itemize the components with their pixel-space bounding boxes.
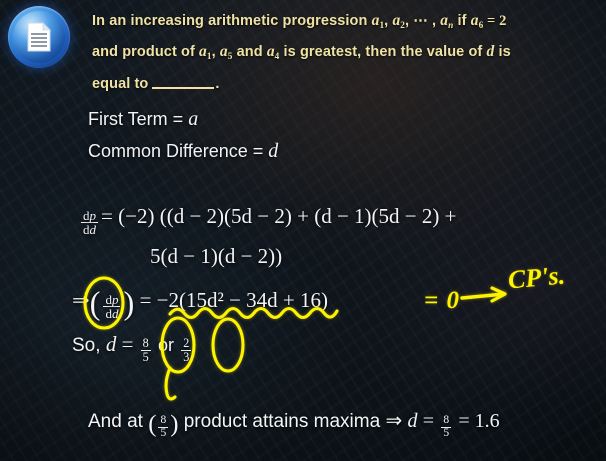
question-line-3: equal to. <box>92 71 592 98</box>
math-var: a <box>267 43 275 60</box>
d-variable: d <box>106 332 117 356</box>
fraction-2-over-3: 2 3 <box>181 337 191 363</box>
derivative-equation-line-3: ⇒( dp dd ) = −2(15d² − 34d + 16) <box>72 288 328 320</box>
eq1-expression: = (−2) ((d − 2)(5d − 2) + (d − 1)(5d − 2… <box>101 204 456 228</box>
question-line-2: and product of a1, a5 and a4 is greatest… <box>92 39 592 70</box>
or-label: or <box>158 335 174 355</box>
question-statement: In an increasing arithmetic progression … <box>92 8 592 97</box>
fraction-8-over-5: 8 5 <box>141 337 151 363</box>
math-var: a <box>440 12 448 29</box>
paren-open: ( <box>148 410 156 437</box>
question-text-fragment: and <box>232 44 266 60</box>
math-var: a <box>199 43 207 60</box>
first-term-symbol: a <box>188 108 198 130</box>
ellipsis: , ⋯ , <box>405 13 440 29</box>
fraction-numerator: dp <box>81 209 98 222</box>
fraction-numerator: dp <box>103 293 120 306</box>
fraction-numerator: 2 <box>181 337 191 349</box>
math-var: a <box>220 43 228 60</box>
d-variable: d <box>90 222 97 237</box>
ellipse-around-two-thirds <box>213 319 243 371</box>
annotation-critical-points: CP's. <box>507 261 566 296</box>
fraction-8-over-5-result: 85 <box>441 415 451 439</box>
question-text-fragment: and product of <box>92 44 199 60</box>
fraction-denominator: 5 <box>441 427 451 440</box>
question-text-fragment: . <box>215 76 219 92</box>
conclusion-middle: product attains maxima <box>184 411 380 432</box>
implies-arrow: ⇒ <box>72 288 90 312</box>
final-value: = 1.6 <box>458 410 499 432</box>
paren-close: ) <box>170 410 178 437</box>
fraction-numerator: 8 <box>158 415 168 427</box>
question-text-fragment: In an increasing arithmetic progression <box>92 13 372 29</box>
first-term-definition: First Term = a <box>88 108 198 131</box>
common-difference-definition: Common Difference = d <box>88 140 278 163</box>
fraction-denominator: 5 <box>158 427 168 440</box>
implies-arrow: ⇒ <box>385 410 402 432</box>
derivative-equation-line-2: 5(d − 1)(d − 2)) <box>150 244 282 269</box>
p-variable: p <box>112 292 119 307</box>
paren-close: ) <box>123 286 134 322</box>
tail-stroke-from-eight-fifths <box>166 368 175 399</box>
fraction-denominator: 3 <box>181 350 191 363</box>
question-text-fragment: is greatest, then the value of <box>279 44 486 60</box>
derivative-fraction: dp dd <box>81 209 98 237</box>
d-variable: d <box>112 306 119 321</box>
question-text-fragment: if <box>453 13 470 29</box>
question-line-1: In an increasing arithmetic progression … <box>92 8 592 39</box>
p-variable: p <box>90 208 97 223</box>
conclusion-line: And at (85) product attains maxima ⇒ d =… <box>88 408 500 440</box>
fraction-denominator: dd <box>103 306 120 320</box>
answer-blank[interactable] <box>152 87 214 89</box>
question-text-fragment: is <box>494 44 510 60</box>
document-icon[interactable] <box>8 6 70 68</box>
first-term-label: First Term = <box>88 109 183 129</box>
math-sub: 1 <box>379 21 384 31</box>
derivative-fraction: dp dd <box>103 293 120 321</box>
fraction-numerator: 8 <box>141 337 151 349</box>
math-sub: 1 <box>207 52 212 62</box>
so-label: So, <box>72 335 106 356</box>
fraction-denominator: 5 <box>141 350 151 363</box>
d-variable: d <box>407 410 417 432</box>
pointer-arrow-head <box>492 288 505 301</box>
common-difference-symbol: d <box>268 140 278 162</box>
conclusion-prefix: And at <box>88 411 143 432</box>
math-var: a <box>471 12 479 29</box>
common-difference-label: Common Difference = <box>88 141 263 161</box>
document-page-icon <box>26 22 52 52</box>
question-text-fragment: equal to <box>92 76 148 92</box>
derivative-equation-line-1: dp dd = (−2) ((d − 2)(5d − 2) + (d − 1)(… <box>78 204 456 236</box>
paren-open: ( <box>90 286 101 322</box>
fraction-denominator: dd <box>81 222 98 236</box>
lecture-slide: In an increasing arithmetic progression … <box>0 0 606 461</box>
pointer-arrow-line <box>462 294 504 298</box>
equals-sign: = <box>423 410 434 432</box>
fraction-numerator: 8 <box>441 415 451 427</box>
eq2-expression: = −2(15d² − 34d + 16) <box>140 288 328 312</box>
question-text-fragment: = 2 <box>483 13 506 29</box>
annotation-equals-zero: = 0 <box>424 287 460 315</box>
solutions-line: So, d = 8 5 or 2 3 <box>72 332 193 363</box>
fraction-8-over-5: 85 <box>158 415 168 439</box>
